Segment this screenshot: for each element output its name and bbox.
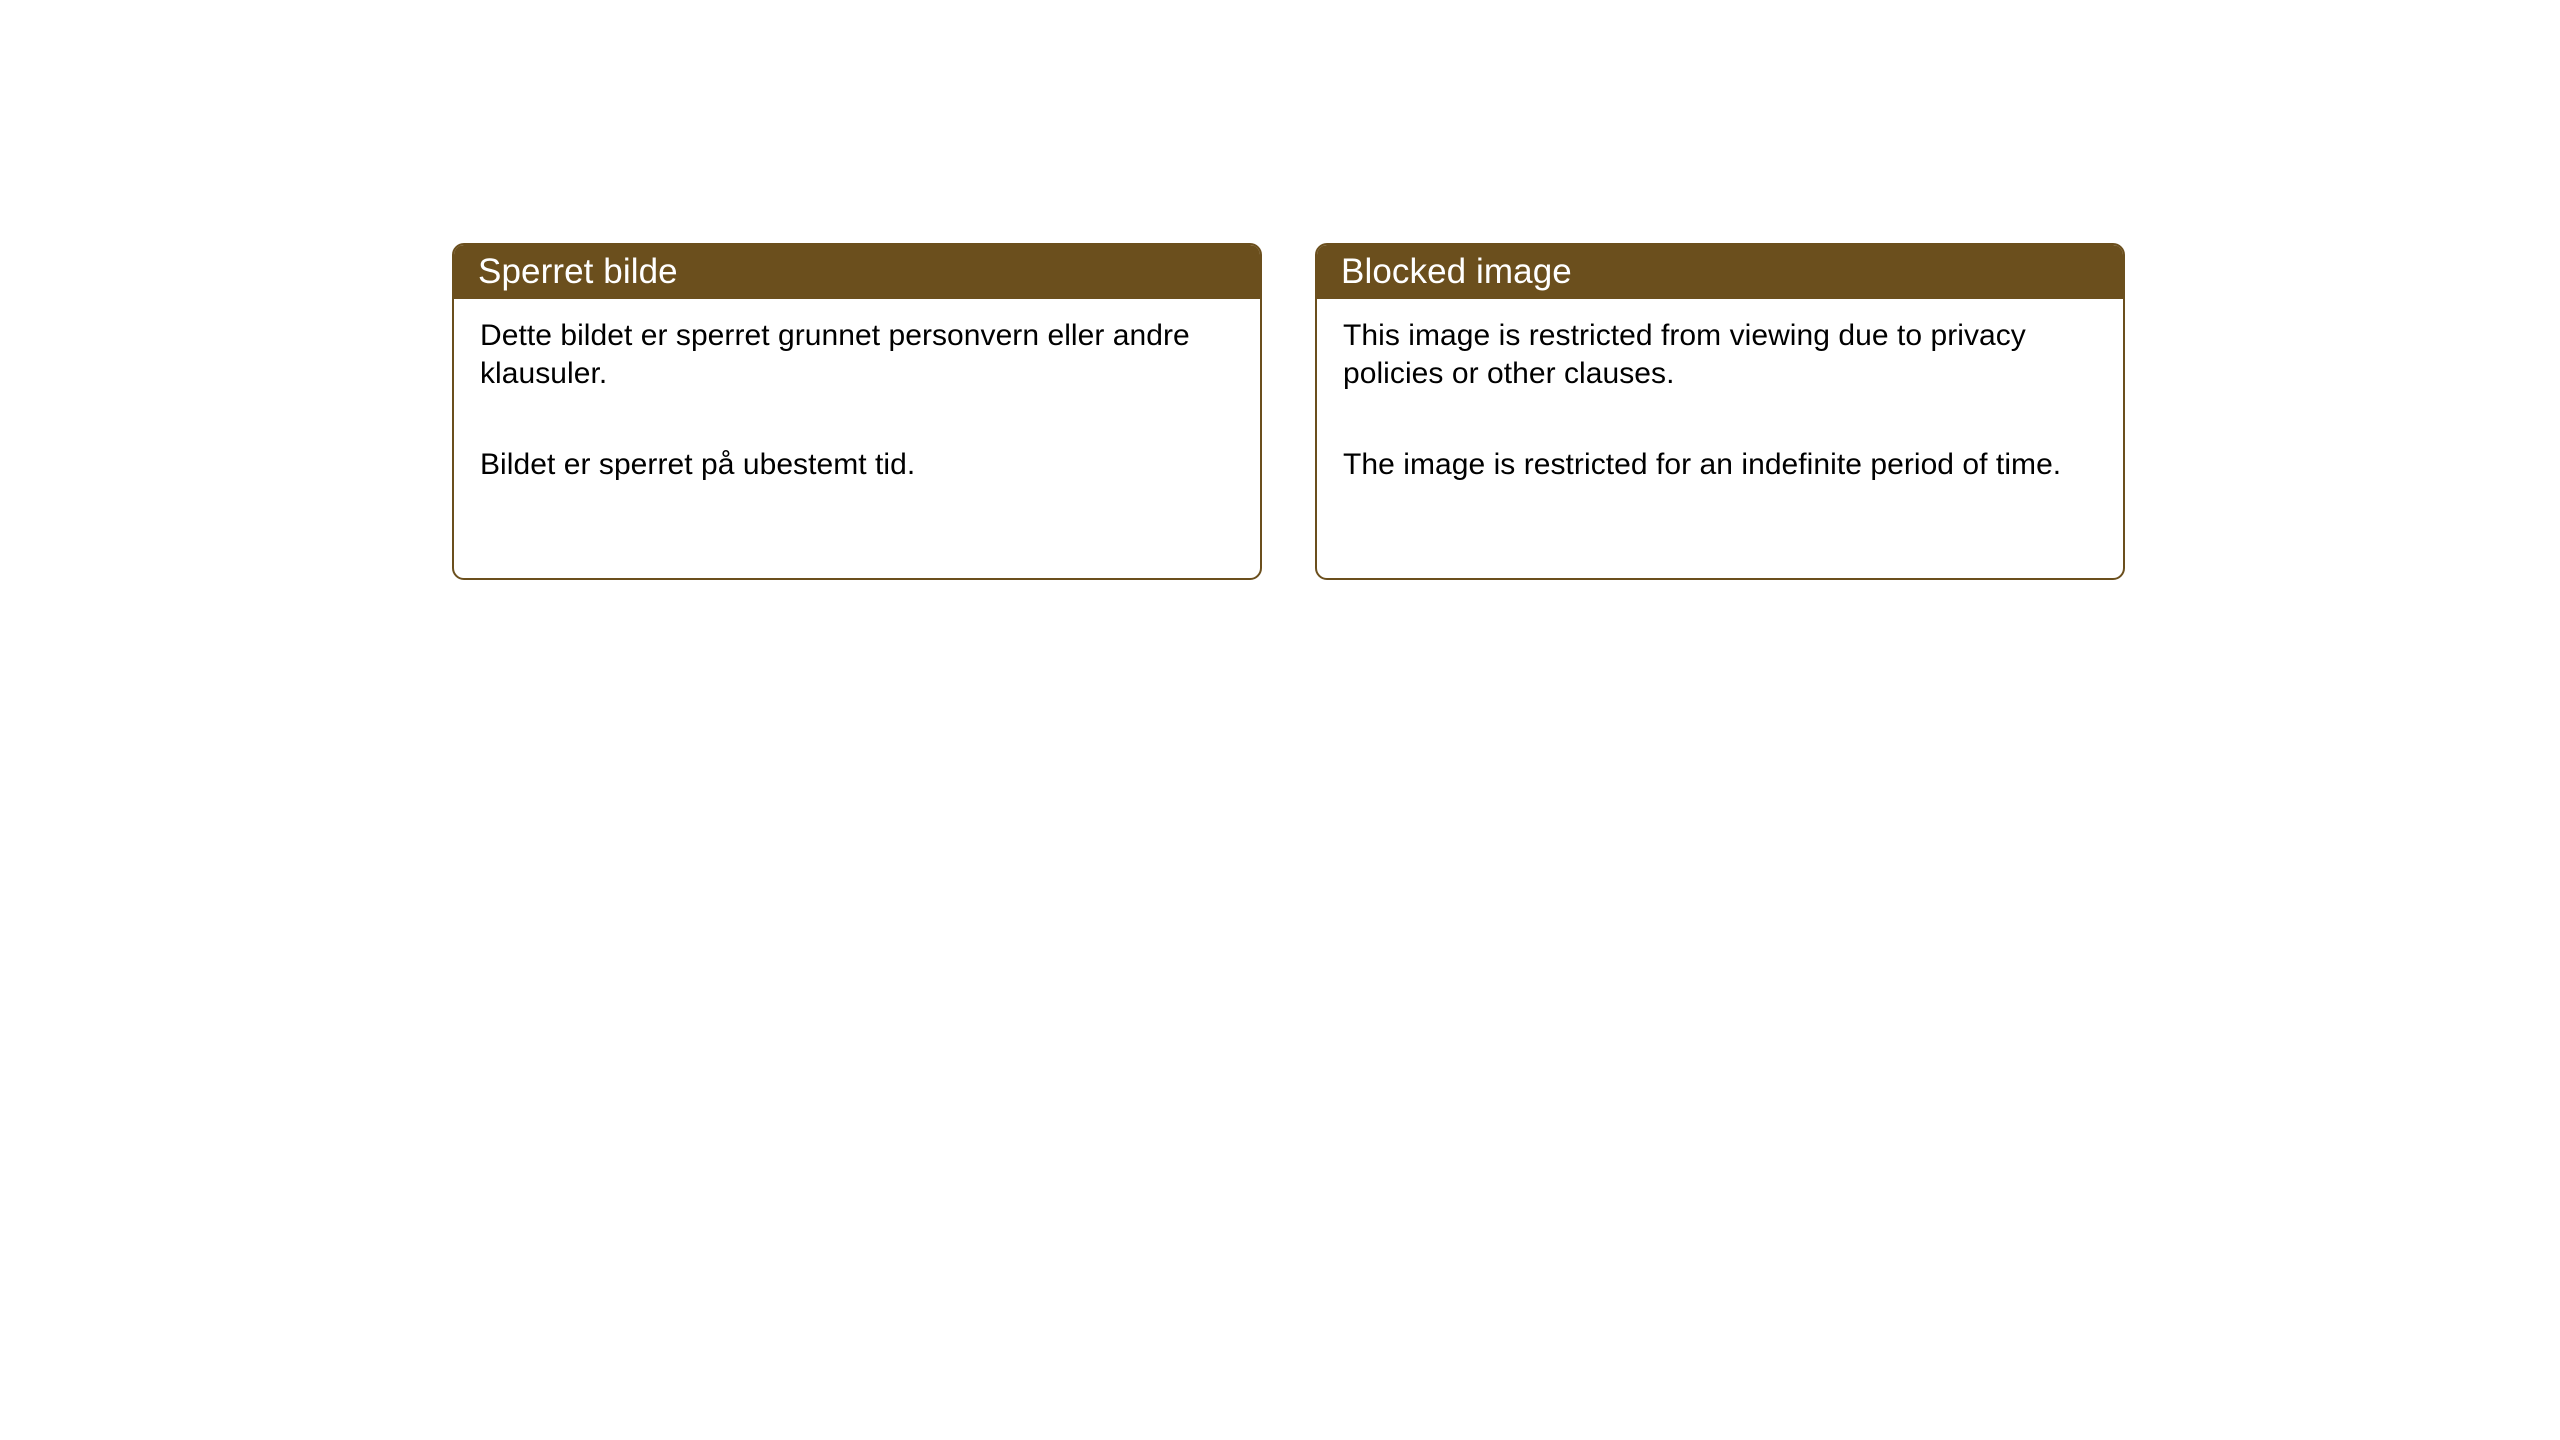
card-paragraph-secondary-norwegian: Bildet er sperret på ubestemt tid.: [480, 446, 1230, 484]
card-title-english: Blocked image: [1341, 254, 1572, 289]
card-paragraph-primary-norwegian: Dette bildet er sperret grunnet personve…: [480, 317, 1230, 394]
blocked-image-card-norwegian: Sperret bilde Dette bildet er sperret gr…: [452, 243, 1262, 580]
card-title-norwegian: Sperret bilde: [478, 254, 678, 289]
card-body-english: This image is restricted from viewing du…: [1317, 299, 2123, 484]
blocked-image-card-english: Blocked image This image is restricted f…: [1315, 243, 2125, 580]
card-body-norwegian: Dette bildet er sperret grunnet personve…: [454, 299, 1260, 484]
card-paragraph-secondary-english: The image is restricted for an indefinit…: [1343, 446, 2093, 484]
card-header-norwegian: Sperret bilde: [452, 243, 1262, 299]
card-header-english: Blocked image: [1315, 243, 2125, 299]
blocked-image-notice-area: Sperret bilde Dette bildet er sperret gr…: [0, 0, 2560, 1440]
card-paragraph-primary-english: This image is restricted from viewing du…: [1343, 317, 2093, 394]
